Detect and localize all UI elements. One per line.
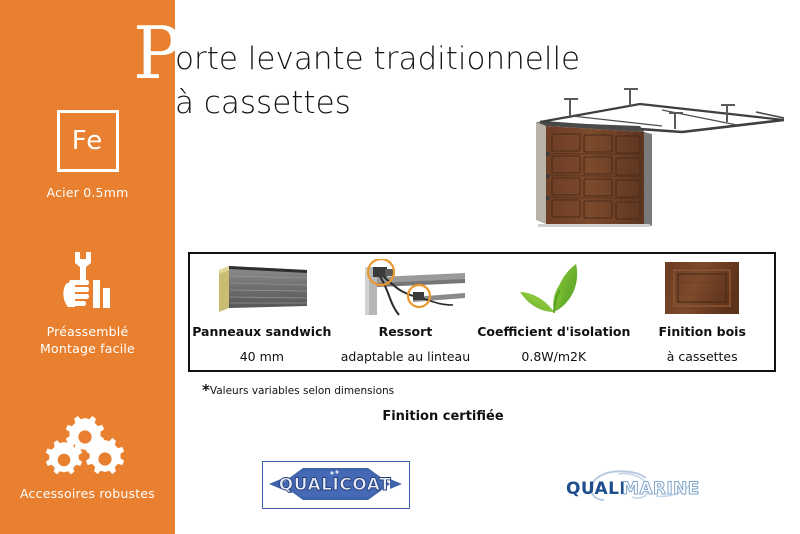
footnote-text: Valeurs variables selon dimensions <box>210 385 394 397</box>
sidebar-feature-preassembled-label-1: Préassemblé <box>0 323 175 340</box>
qualimarine-logo: QUALI MARINE <box>560 466 710 508</box>
feature-4-line-2: à cassettes <box>667 349 738 364</box>
wood-finish-swatch-image <box>659 259 745 317</box>
title-dropcap: P <box>133 22 181 84</box>
feature-box: Panneaux sandwich 40 mm <box>188 252 776 372</box>
svg-text:QUALI: QUALI <box>566 479 626 499</box>
iron-symbol-label: Fe <box>72 126 104 156</box>
feature-ressort: Ressort adaptable au linteau <box>334 254 478 370</box>
product-spec-sheet: Fe Acier 0.5mm <box>0 0 800 534</box>
spring-mechanism-image <box>343 259 467 317</box>
footnote: *Valeurs variables selon dimensions <box>202 381 394 399</box>
sidebar-feature-accessories-label: Accessoires robustes <box>0 485 175 502</box>
feature-1-line-2: 40 mm <box>240 349 284 364</box>
svg-text:MARINE: MARINE <box>622 479 700 499</box>
sidebar-feature-preassembled: Préassemblé Montage facile <box>0 248 175 357</box>
sidebar-feature-accessories: Accessoires robustes <box>0 415 175 502</box>
sandwich-panel-image <box>209 259 315 317</box>
green-leaves-icon <box>514 259 594 317</box>
garage-door-photo <box>512 82 784 230</box>
feature-2-line-1: Ressort <box>379 324 433 339</box>
feature-4-line-1: Finition bois <box>659 324 746 339</box>
iron-element-box-icon: Fe <box>57 110 119 172</box>
wrench-hand-icon <box>0 248 175 314</box>
certification-title: Finition certifiée <box>0 409 800 424</box>
feature-panneaux-sandwich: Panneaux sandwich 40 mm <box>190 254 334 370</box>
svg-text:QUALICOAT: QUALICOAT <box>279 475 391 495</box>
feature-1-line-1: Panneaux sandwich <box>192 324 331 339</box>
qualicoat-logo: QUALICOAT <box>262 461 410 509</box>
feature-coefficient-isolation: Coefficient d'isolation 0.8W/m2K <box>477 254 630 370</box>
footnote-marker: * <box>202 381 210 399</box>
gears-icon <box>0 415 175 479</box>
sidebar-feature-steel-label: Acier 0.5mm <box>0 184 175 201</box>
page-title-line-1: orte levante traditionnelle <box>175 41 580 77</box>
feature-3-line-1: Coefficient d'isolation <box>477 324 630 339</box>
feature-finition-bois: Finition bois à cassettes <box>630 254 774 370</box>
sidebar-feature-preassembled-label-2: Montage facile <box>0 340 175 357</box>
feature-3-line-2: 0.8W/m2K <box>521 349 586 364</box>
feature-2-line-2: adaptable au linteau <box>341 349 470 364</box>
sidebar-feature-steel: Fe Acier 0.5mm <box>0 110 175 201</box>
